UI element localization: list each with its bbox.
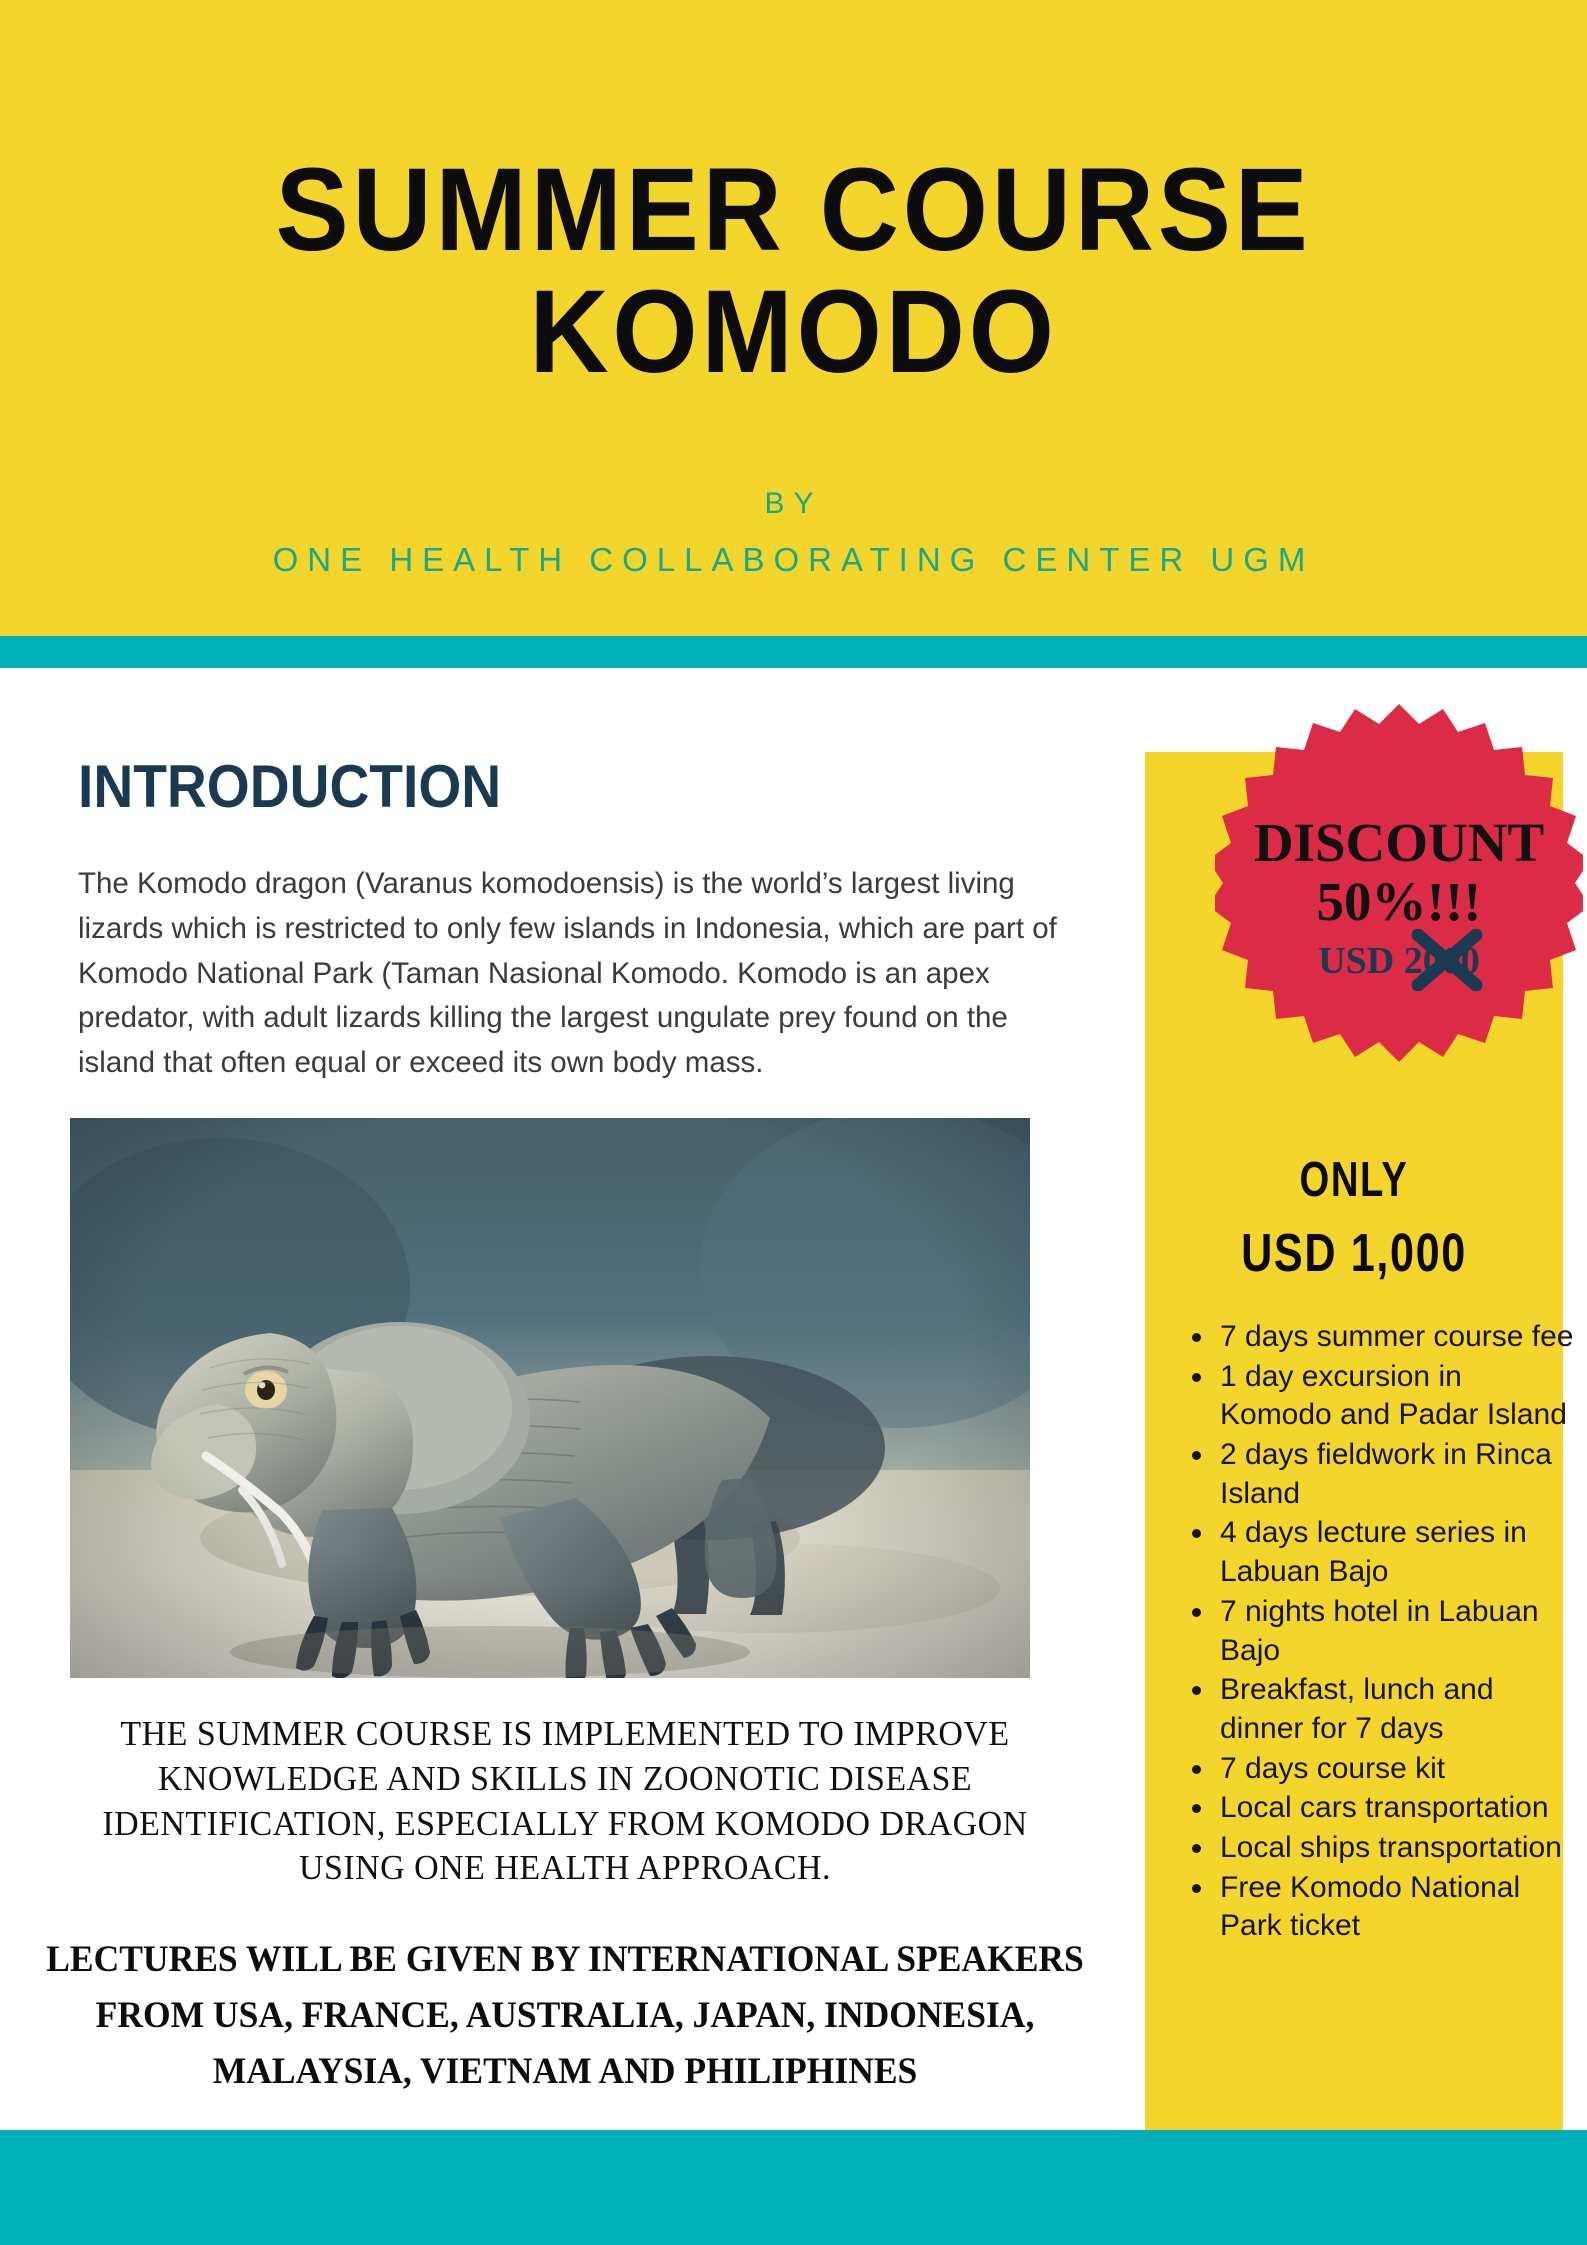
list-item: Local cars transportation xyxy=(1216,1789,1576,1828)
list-item: 7 days summer course fee xyxy=(1216,1318,1576,1357)
objective-caption: THE SUMMER COURSE IS IMPLEMENTED TO IMPR… xyxy=(46,1712,1084,1891)
inclusions-list: 7 days summer course fee 1 day excursion… xyxy=(1178,1318,1576,1947)
price-value: USD 1,000 xyxy=(1187,1222,1521,1284)
list-item: 7 nights hotel in Labuan Bajo xyxy=(1216,1593,1576,1670)
discount-badge xyxy=(1215,702,1583,1070)
list-item: Free Komodo National Park ticket xyxy=(1216,1869,1576,1946)
starburst-shape-icon xyxy=(1215,702,1583,1070)
page-title: SUMMER COURSE KOMODO xyxy=(56,150,1532,393)
list-item: 2 days fieldwork in Rinca Island xyxy=(1216,1436,1576,1513)
organization-name: ONE HEALTH COLLABORATING CENTER UGM xyxy=(0,541,1587,579)
poster-canvas: SUMMER COURSE KOMODO BY ONE HEALTH COLLA… xyxy=(0,0,1587,2245)
header-band: SUMMER COURSE KOMODO BY ONE HEALTH COLLA… xyxy=(0,0,1587,636)
teal-divider-top xyxy=(0,636,1587,668)
title-line-1: SUMMER COURSE xyxy=(56,150,1532,272)
introduction-body: The Komodo dragon (Varanus komodoensis) … xyxy=(78,862,1078,1086)
komodo-photo-illustration xyxy=(70,1118,1030,1678)
by-label: BY xyxy=(0,487,1587,521)
list-item: Breakfast, lunch and dinner for 7 days xyxy=(1216,1671,1576,1748)
komodo-dragon-photo xyxy=(70,1118,1030,1678)
speakers-caption: LECTURES WILL BE GIVEN BY INTERNATIONAL … xyxy=(42,1932,1088,2101)
list-item: 1 day excursion in Komodo and Padar Isla… xyxy=(1216,1358,1576,1435)
title-line-2: KOMODO xyxy=(56,272,1532,394)
list-item: 4 days lecture series in Labuan Bajo xyxy=(1216,1514,1576,1591)
list-item: Local ships transportation xyxy=(1216,1829,1576,1868)
teal-divider-bottom xyxy=(0,2130,1587,2245)
list-item: 7 days course kit xyxy=(1216,1750,1576,1789)
only-label: ONLY xyxy=(1191,1152,1517,1208)
introduction-heading: INTRODUCTION xyxy=(78,752,501,821)
